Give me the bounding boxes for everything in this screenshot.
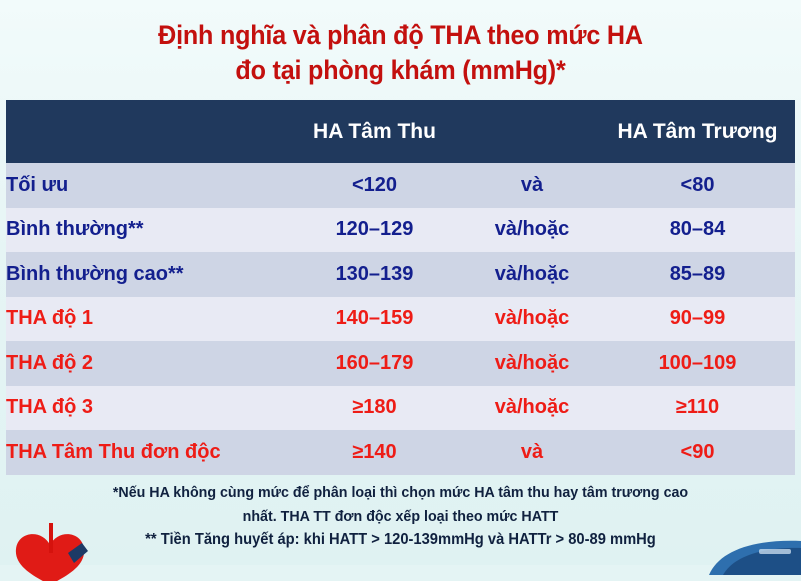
row-operator: và	[464, 430, 600, 475]
row-label: THA độ 2	[6, 341, 285, 386]
column-header-diastolic: HA Tâm Trương	[600, 100, 795, 163]
row-operator: và/hoặc	[464, 252, 600, 297]
table-body: Tối ưu <120 và <80 Bình thường** 120–129…	[6, 163, 795, 475]
column-header-category	[6, 100, 285, 163]
footnote-line-3: ** Tiền Tăng huyết áp: khi HATT > 120-13…	[20, 528, 781, 552]
row-operator: và	[464, 163, 600, 208]
row-operator: và/hoặc	[464, 386, 600, 431]
row-diastolic-value: ≥110	[600, 386, 795, 431]
row-diastolic-value: <90	[600, 430, 795, 475]
row-label: THA Tâm Thu đơn độc	[6, 430, 285, 475]
row-diastolic-value: 100–109	[600, 341, 795, 386]
blood-pressure-classification-table: HA Tâm Thu HA Tâm Trương Tối ưu <120 và …	[6, 100, 795, 475]
row-label: THA độ 1	[6, 297, 285, 342]
row-systolic-value: 140–159	[285, 297, 464, 342]
row-operator: và/hoặc	[464, 208, 600, 253]
row-operator: và/hoặc	[464, 341, 600, 386]
table-row: THA độ 3 ≥180 và/hoặc ≥110	[6, 386, 795, 431]
table-row: Tối ưu <120 và <80	[6, 163, 795, 208]
table-header: HA Tâm Thu HA Tâm Trương	[6, 100, 795, 163]
table-row: THA độ 1 140–159 và/hoặc 90–99	[6, 297, 795, 342]
row-diastolic-value: <80	[600, 163, 795, 208]
page-title: Định nghĩa và phân độ THA theo mức HA đo…	[28, 18, 773, 88]
row-systolic-value: ≥180	[285, 386, 464, 431]
footnote-line-1: *Nếu HA không cùng mức để phân loại thì …	[20, 481, 781, 505]
row-systolic-value: ≥140	[285, 430, 464, 475]
row-operator: và/hoặc	[464, 297, 600, 342]
row-systolic-value: 130–139	[285, 252, 464, 297]
page-title-line-1: Định nghĩa và phân độ THA theo mức HA	[28, 18, 773, 53]
footnote-line-2: nhất. THA TT đơn độc xếp loại theo mức H…	[20, 505, 781, 529]
column-header-systolic: HA Tâm Thu	[285, 100, 464, 163]
row-diastolic-value: 80–84	[600, 208, 795, 253]
table-row: THA độ 2 160–179 và/hoặc 100–109	[6, 341, 795, 386]
table-header-row: HA Tâm Thu HA Tâm Trương	[6, 100, 795, 163]
column-header-operator	[464, 100, 600, 163]
row-diastolic-value: 90–99	[600, 297, 795, 342]
table-row: Bình thường** 120–129 và/hoặc 80–84	[6, 208, 795, 253]
row-label: Bình thường cao**	[6, 252, 285, 297]
footnotes: *Nếu HA không cùng mức để phân loại thì …	[20, 481, 781, 552]
page-title-line-2: đo tại phòng khám (mmHg)*	[28, 53, 773, 88]
row-systolic-value: <120	[285, 163, 464, 208]
row-systolic-value: 120–129	[285, 208, 464, 253]
row-systolic-value: 160–179	[285, 341, 464, 386]
slide-canvas: Định nghĩa và phân độ THA theo mức HA đo…	[0, 0, 801, 565]
table-row: THA Tâm Thu đơn độc ≥140 và <90	[6, 430, 795, 475]
table-row: Bình thường cao** 130–139 và/hoặc 85–89	[6, 252, 795, 297]
row-diastolic-value: 85–89	[600, 252, 795, 297]
row-label: Tối ưu	[6, 163, 285, 208]
row-label: THA độ 3	[6, 386, 285, 431]
row-label: Bình thường**	[6, 208, 285, 253]
